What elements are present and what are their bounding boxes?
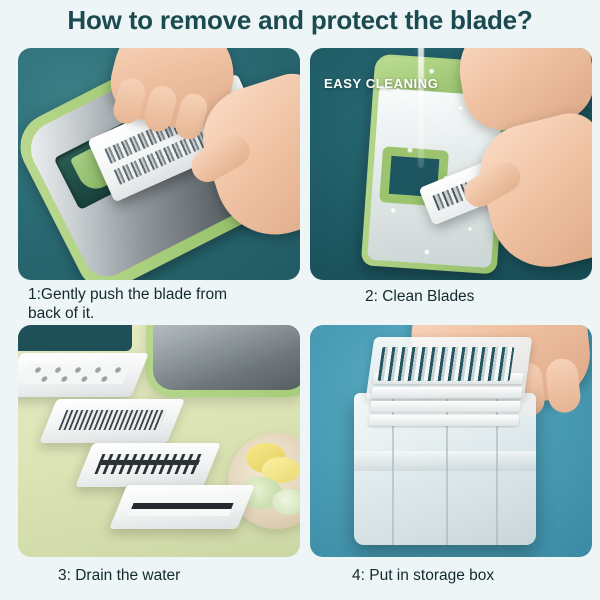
water-stream <box>418 48 424 168</box>
finger <box>142 83 179 134</box>
step-4-caption: 4: Put in storage box <box>352 566 592 585</box>
infographic-page: How to remove and protect the blade? 1:G… <box>0 0 600 600</box>
blade-face <box>58 410 166 430</box>
blade-face <box>22 364 130 384</box>
blade-insert <box>368 415 519 426</box>
blade-face <box>94 454 202 474</box>
blade-insert-julienne <box>39 399 185 443</box>
blade-face <box>128 496 236 516</box>
finger <box>544 357 581 414</box>
blade-insert-wide-julienne <box>75 443 221 487</box>
step-panel-2: EASY CLEANING <box>310 48 592 280</box>
step-3-caption: 3: Drain the water <box>58 566 298 585</box>
page-title: How to remove and protect the blade? <box>0 5 600 36</box>
blade-insert-grater <box>18 353 149 397</box>
step-panel-4 <box>310 325 592 557</box>
slicer-body <box>146 325 300 397</box>
cucumber-slice <box>272 489 300 515</box>
storage-box-band <box>354 451 536 471</box>
finger <box>110 75 147 126</box>
blade-insert-straight <box>109 485 255 529</box>
blade-insert <box>370 401 521 412</box>
slicer-steel-plate <box>153 325 300 390</box>
step-2-caption: 2: Clean Blades <box>365 287 585 306</box>
step-1-caption: 1:Gently push the blade from back of it. <box>28 285 293 323</box>
blade-teeth-row <box>378 347 515 381</box>
step-panel-3 <box>18 325 300 557</box>
step-panel-1 <box>18 48 300 280</box>
blade-insert <box>371 387 522 398</box>
dark-backdrop <box>18 325 132 351</box>
easy-cleaning-label: EASY CLEANING <box>324 76 438 91</box>
